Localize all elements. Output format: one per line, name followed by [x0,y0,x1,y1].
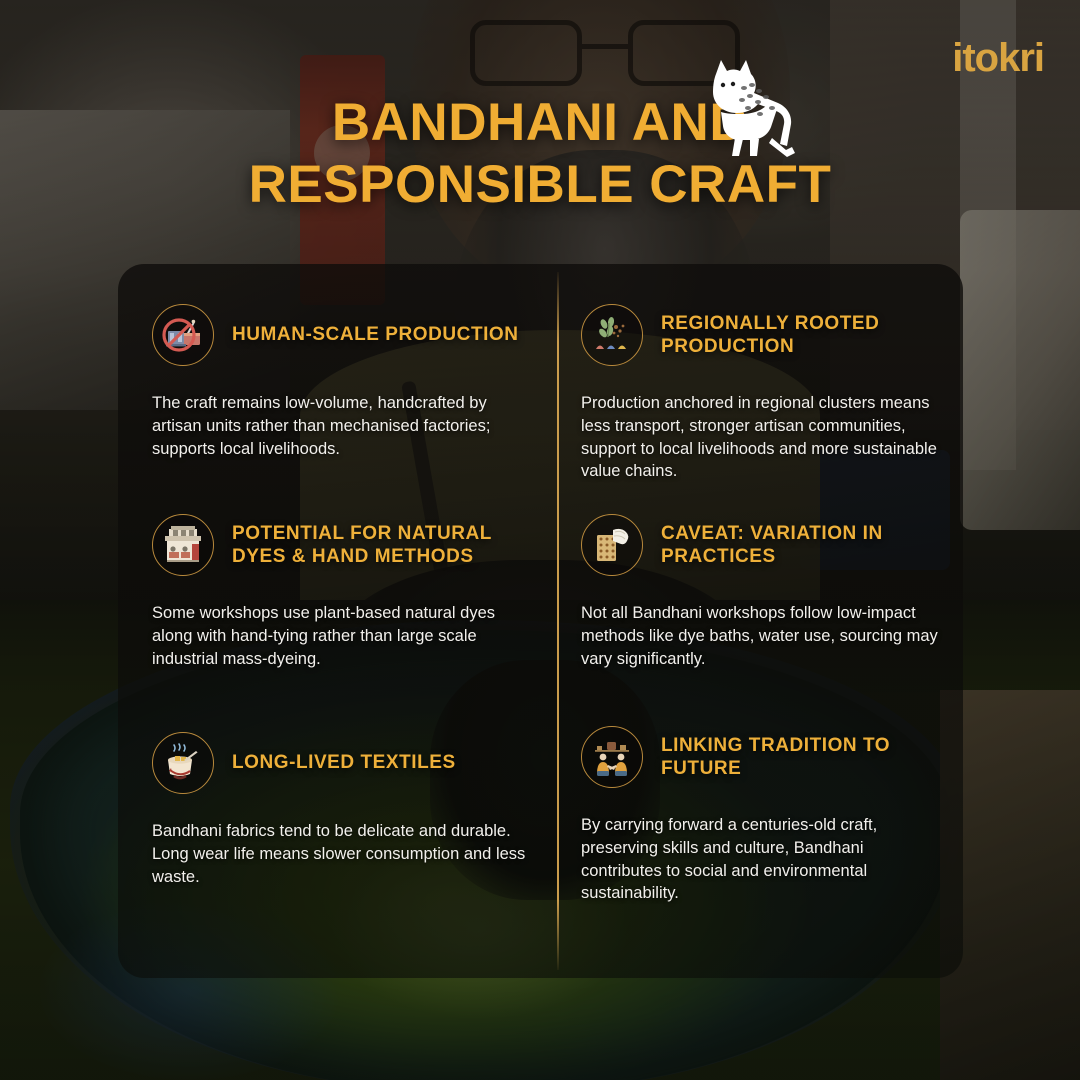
card-body: Some workshops use plant-based natural d… [152,602,537,670]
card-body: Not all Bandhani workshops follow low-im… [581,602,941,670]
page-title: BANDHANI AND RESPONSIBLE CRAFT [0,92,1080,216]
leopard-mascot-icon [688,52,806,162]
card-linking-tradition-to-future: LINKING TRADITION TO FUTURE By carrying … [557,684,963,978]
hand-holding-patterned-fabric-icon [581,514,643,576]
card-title: CAVEAT: VARIATION IN PRACTICES [661,522,941,568]
card-caveat-variation-in-practices: CAVEAT: VARIATION IN PRACTICES Not all B… [557,474,963,684]
steaming-dye-pot-icon [152,732,214,794]
card-body: The craft remains low-volume, handcrafte… [152,392,537,460]
brand-logo-text: itokri [952,36,1044,80]
card-human-scale-production: HUMAN-SCALE PRODUCTION The craft remains… [118,264,557,474]
content-panel: HUMAN-SCALE PRODUCTION The craft remains… [118,264,963,978]
title-line-2: RESPONSIBLE CRAFT [0,154,1080,216]
brand-logo[interactable]: itokri [952,38,1044,78]
card-title: REGIONALLY ROOTED PRODUCTION [661,312,941,358]
no-factory-machine-icon [152,304,214,366]
card-body: Bandhani fabrics tend to be delicate and… [152,820,537,888]
two-artisans-seated-icon [581,726,643,788]
card-title: LINKING TRADITION TO FUTURE [661,734,941,780]
card-potential-for-natural-dyes: POTENTIAL FOR NATURAL DYES & HAND METHOD… [118,474,557,684]
plant-dye-powders-icon [581,304,643,366]
card-title: POTENTIAL FOR NATURAL DYES & HAND METHOD… [232,522,537,568]
title-line-1: BANDHANI AND [0,92,1080,154]
craft-workshop-building-icon [152,514,214,576]
card-regionally-rooted-production: REGIONALLY ROOTED PRODUCTION Production … [557,264,963,474]
card-body: Production anchored in regional clusters… [581,392,941,483]
card-body: By carrying forward a centuries-old craf… [581,814,941,905]
card-long-lived-textiles: LONG-LIVED TEXTILES Bandhani fabrics ten… [118,684,557,978]
card-title: LONG-LIVED TEXTILES [232,751,456,774]
card-title: HUMAN-SCALE PRODUCTION [232,323,519,346]
